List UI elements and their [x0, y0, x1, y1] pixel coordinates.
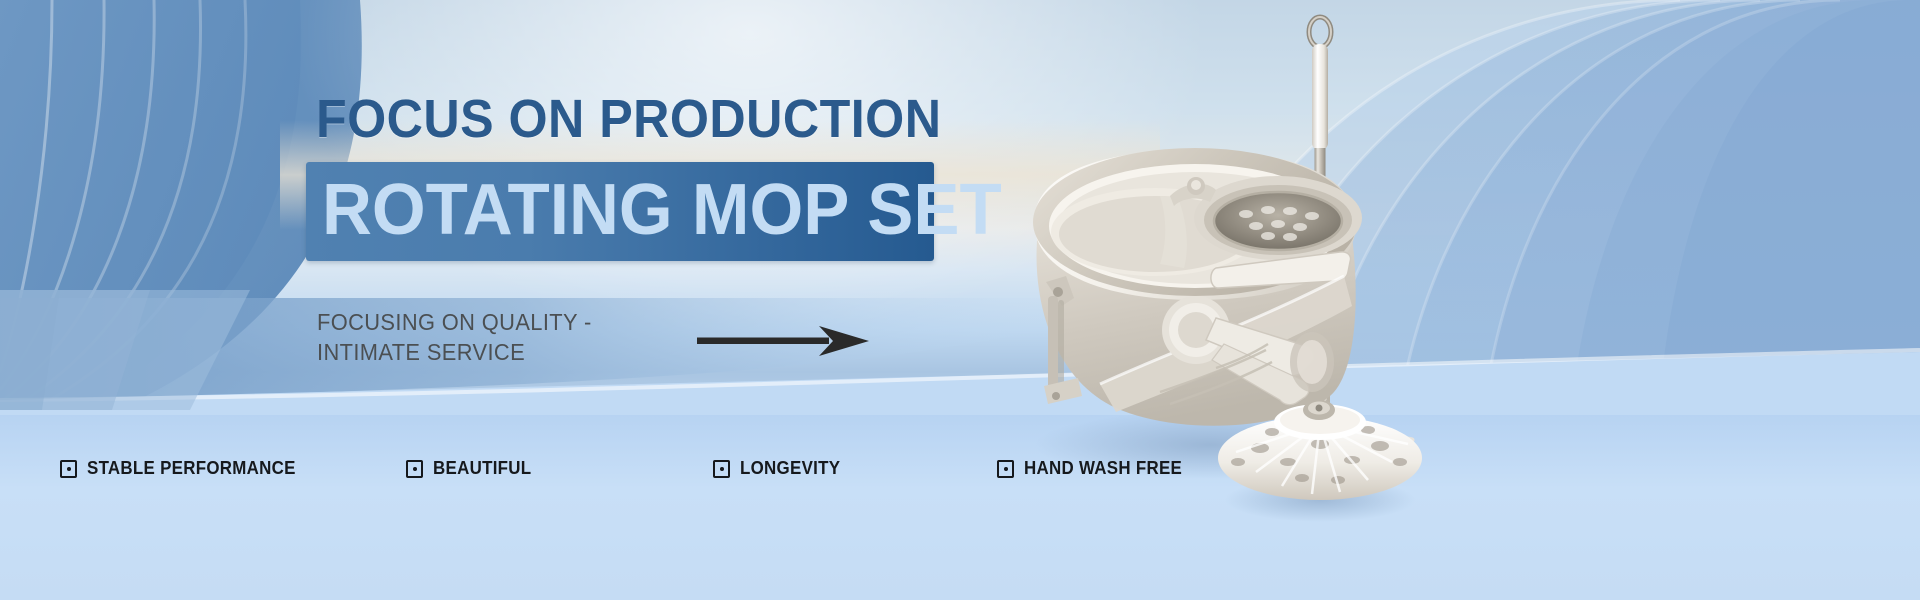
feature-list: STABLE PERFORMANCE BEAUTIFUL LONGEVITY H… — [0, 458, 1920, 482]
feature-item-longevity: LONGEVITY — [713, 458, 847, 479]
feature-label: HAND WASH FREE — [1024, 458, 1182, 479]
title-banner-label: ROTATING MOP SET — [322, 169, 1002, 251]
background-scene — [0, 0, 1920, 600]
mop-bucket — [1033, 148, 1362, 426]
feature-item-stable-performance: STABLE PERFORMANCE — [60, 458, 309, 479]
subtitle-text: FOCUSING ON QUALITY - INTIMATE SERVICE — [317, 307, 592, 367]
square-dot-icon — [60, 460, 77, 478]
square-dot-icon — [713, 460, 730, 478]
feature-label: STABLE PERFORMANCE — [87, 458, 296, 479]
square-dot-icon — [406, 460, 423, 478]
feature-item-beautiful: BEAUTIFUL — [406, 458, 538, 479]
page-title: FOCUS ON PRODUCTION — [316, 88, 941, 150]
square-dot-icon — [997, 460, 1014, 478]
arrow-right-icon — [697, 326, 869, 356]
feature-label: BEAUTIFUL — [433, 458, 531, 479]
product-image-spin-mop — [1020, 0, 1440, 600]
title-banner-box: ROTATING MOP SET — [306, 162, 934, 261]
feature-label: LONGEVITY — [740, 458, 840, 479]
feature-item-hand-wash-free: HAND WASH FREE — [997, 458, 1192, 479]
promo-banner: FOCUS ON PRODUCTION ROTATING MOP SET FOC… — [0, 0, 1920, 600]
